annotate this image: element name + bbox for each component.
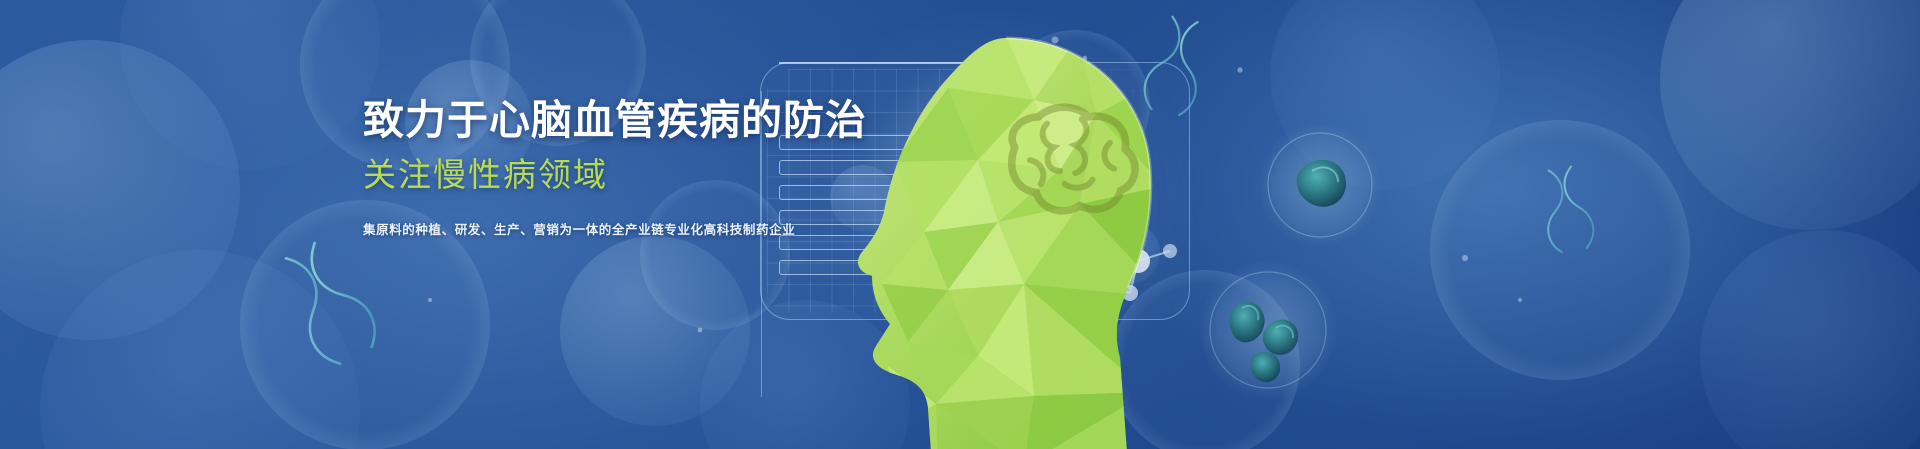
head-icon	[828, 36, 1188, 449]
dna-helix-icon	[272, 235, 385, 371]
bacteria-cell-icon	[1198, 260, 1338, 400]
hero-subtitle: 集原料的种植、研发、生产、营销为一体的全产业链专业化高科技制药企业	[363, 222, 793, 240]
dna-helix-icon	[1538, 164, 1597, 255]
hero-banner: 致力于心脑血管疾病的防治 关注慢性病领域 集原料的种植、研发、生产、营销为一体的…	[0, 0, 1920, 449]
headline-primary: 致力于心脑血管疾病的防治	[363, 96, 793, 144]
low-poly-head-graphic	[828, 36, 1168, 449]
hero-copy: 致力于心脑血管疾病的防治 关注慢性病领域 集原料的种植、研发、生产、营销为一体的…	[363, 96, 793, 239]
headline-secondary: 关注慢性病领域	[363, 154, 793, 195]
head-facets	[828, 36, 1188, 449]
bacteria-cell-icon	[1258, 123, 1382, 247]
